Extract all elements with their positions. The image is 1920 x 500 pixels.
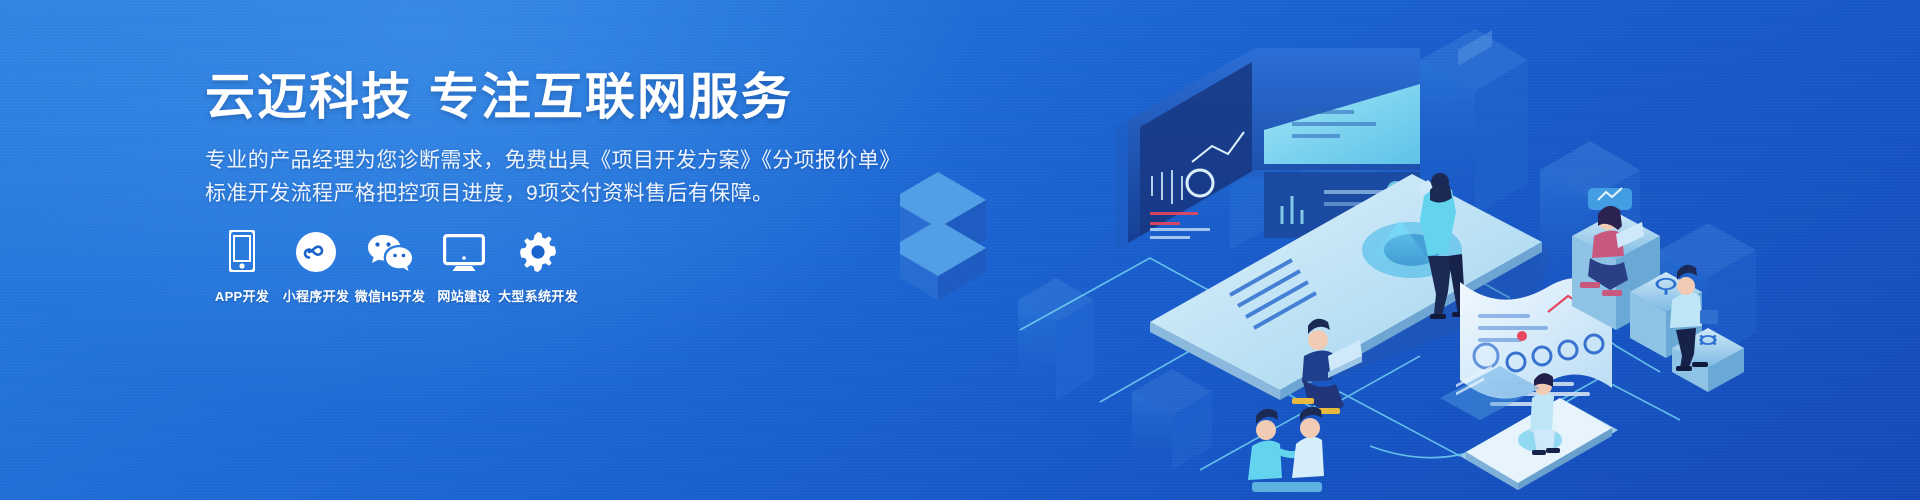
service-item-wechat-h5[interactable]: 微信H5开发 bbox=[353, 228, 427, 305]
mobile-phone-icon bbox=[229, 228, 255, 272]
subtitle-line-2: 标准开发流程严格把控项目进度，9项交付资料售后有保障。 bbox=[205, 178, 773, 211]
wechat-icon bbox=[367, 228, 413, 272]
service-label: 小程序开发 bbox=[283, 286, 350, 305]
banner-content: 云迈科技 专注互联网服务 专业的产品经理为您诊断需求，免费出具《项目开发方案》《… bbox=[205, 0, 965, 500]
subtitle-line-1: 专业的产品经理为您诊断需求，免费出具《项目开发方案》《分项报价单》 bbox=[205, 145, 901, 178]
monitor-icon bbox=[443, 228, 485, 272]
service-item-app[interactable]: APP开发 bbox=[205, 228, 279, 305]
service-label: 大型系统开发 bbox=[498, 286, 578, 305]
service-label: 网站建设 bbox=[437, 286, 490, 305]
person-pair-bottom bbox=[1248, 407, 1324, 492]
service-item-website[interactable]: 网站建设 bbox=[427, 228, 501, 305]
service-label: APP开发 bbox=[215, 286, 269, 305]
service-label: 微信H5开发 bbox=[355, 286, 425, 305]
service-item-large-system[interactable]: 大型系统开发 bbox=[501, 228, 575, 305]
page-title: 云迈科技 专注互联网服务 bbox=[205, 72, 793, 122]
gear-icon bbox=[518, 228, 558, 272]
mini-program-icon bbox=[296, 228, 336, 272]
hero-banner: 云迈科技 专注互联网服务 专业的产品经理为您诊断需求，免费出具《项目开发方案》《… bbox=[0, 0, 1920, 500]
service-list: APP开发 小程序开发 bbox=[205, 228, 575, 305]
service-item-miniprogram[interactable]: 小程序开发 bbox=[279, 228, 353, 305]
isometric-data-platform-illustration bbox=[900, 0, 1920, 500]
